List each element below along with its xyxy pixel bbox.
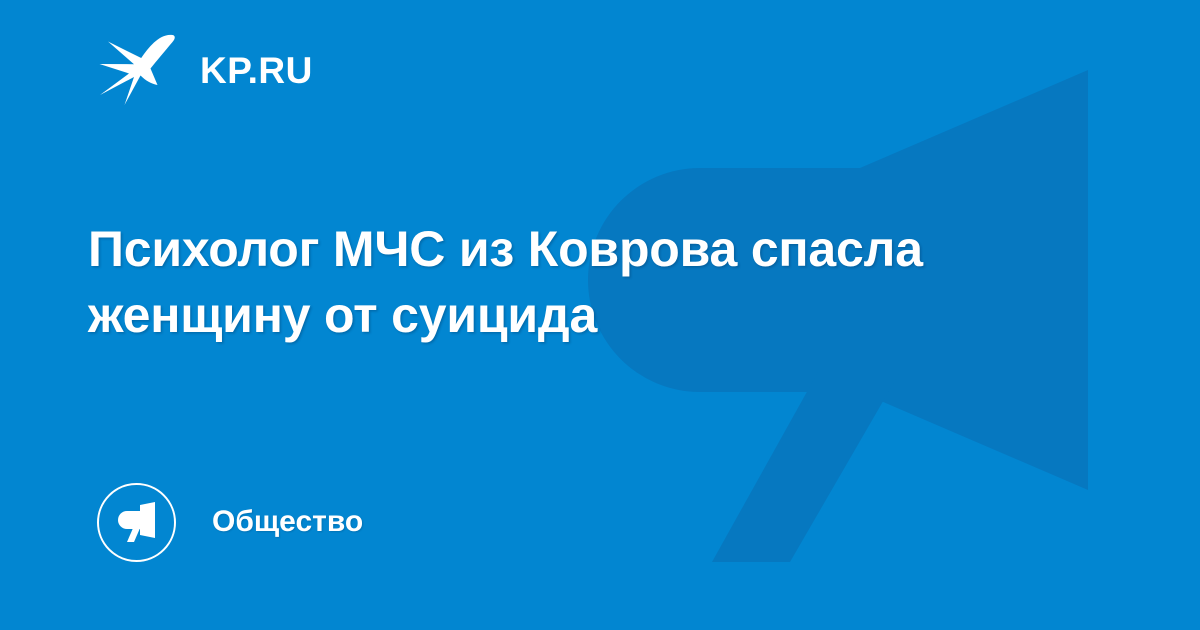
category-badge[interactable]: Общество bbox=[97, 482, 363, 562]
category-label: Общество bbox=[212, 507, 363, 537]
megaphone-icon bbox=[115, 500, 159, 544]
share-card: KP.RU Психолог МЧС из Коврова спасла жен… bbox=[0, 0, 1200, 630]
brand-logo[interactable]: KP.RU bbox=[96, 34, 313, 106]
category-icon-circle bbox=[97, 483, 176, 562]
swallow-bird-icon bbox=[96, 33, 180, 107]
brand-name: KP.RU bbox=[200, 52, 313, 89]
page-title: Психолог МЧС из Коврова спасла женщину о… bbox=[88, 216, 1088, 348]
